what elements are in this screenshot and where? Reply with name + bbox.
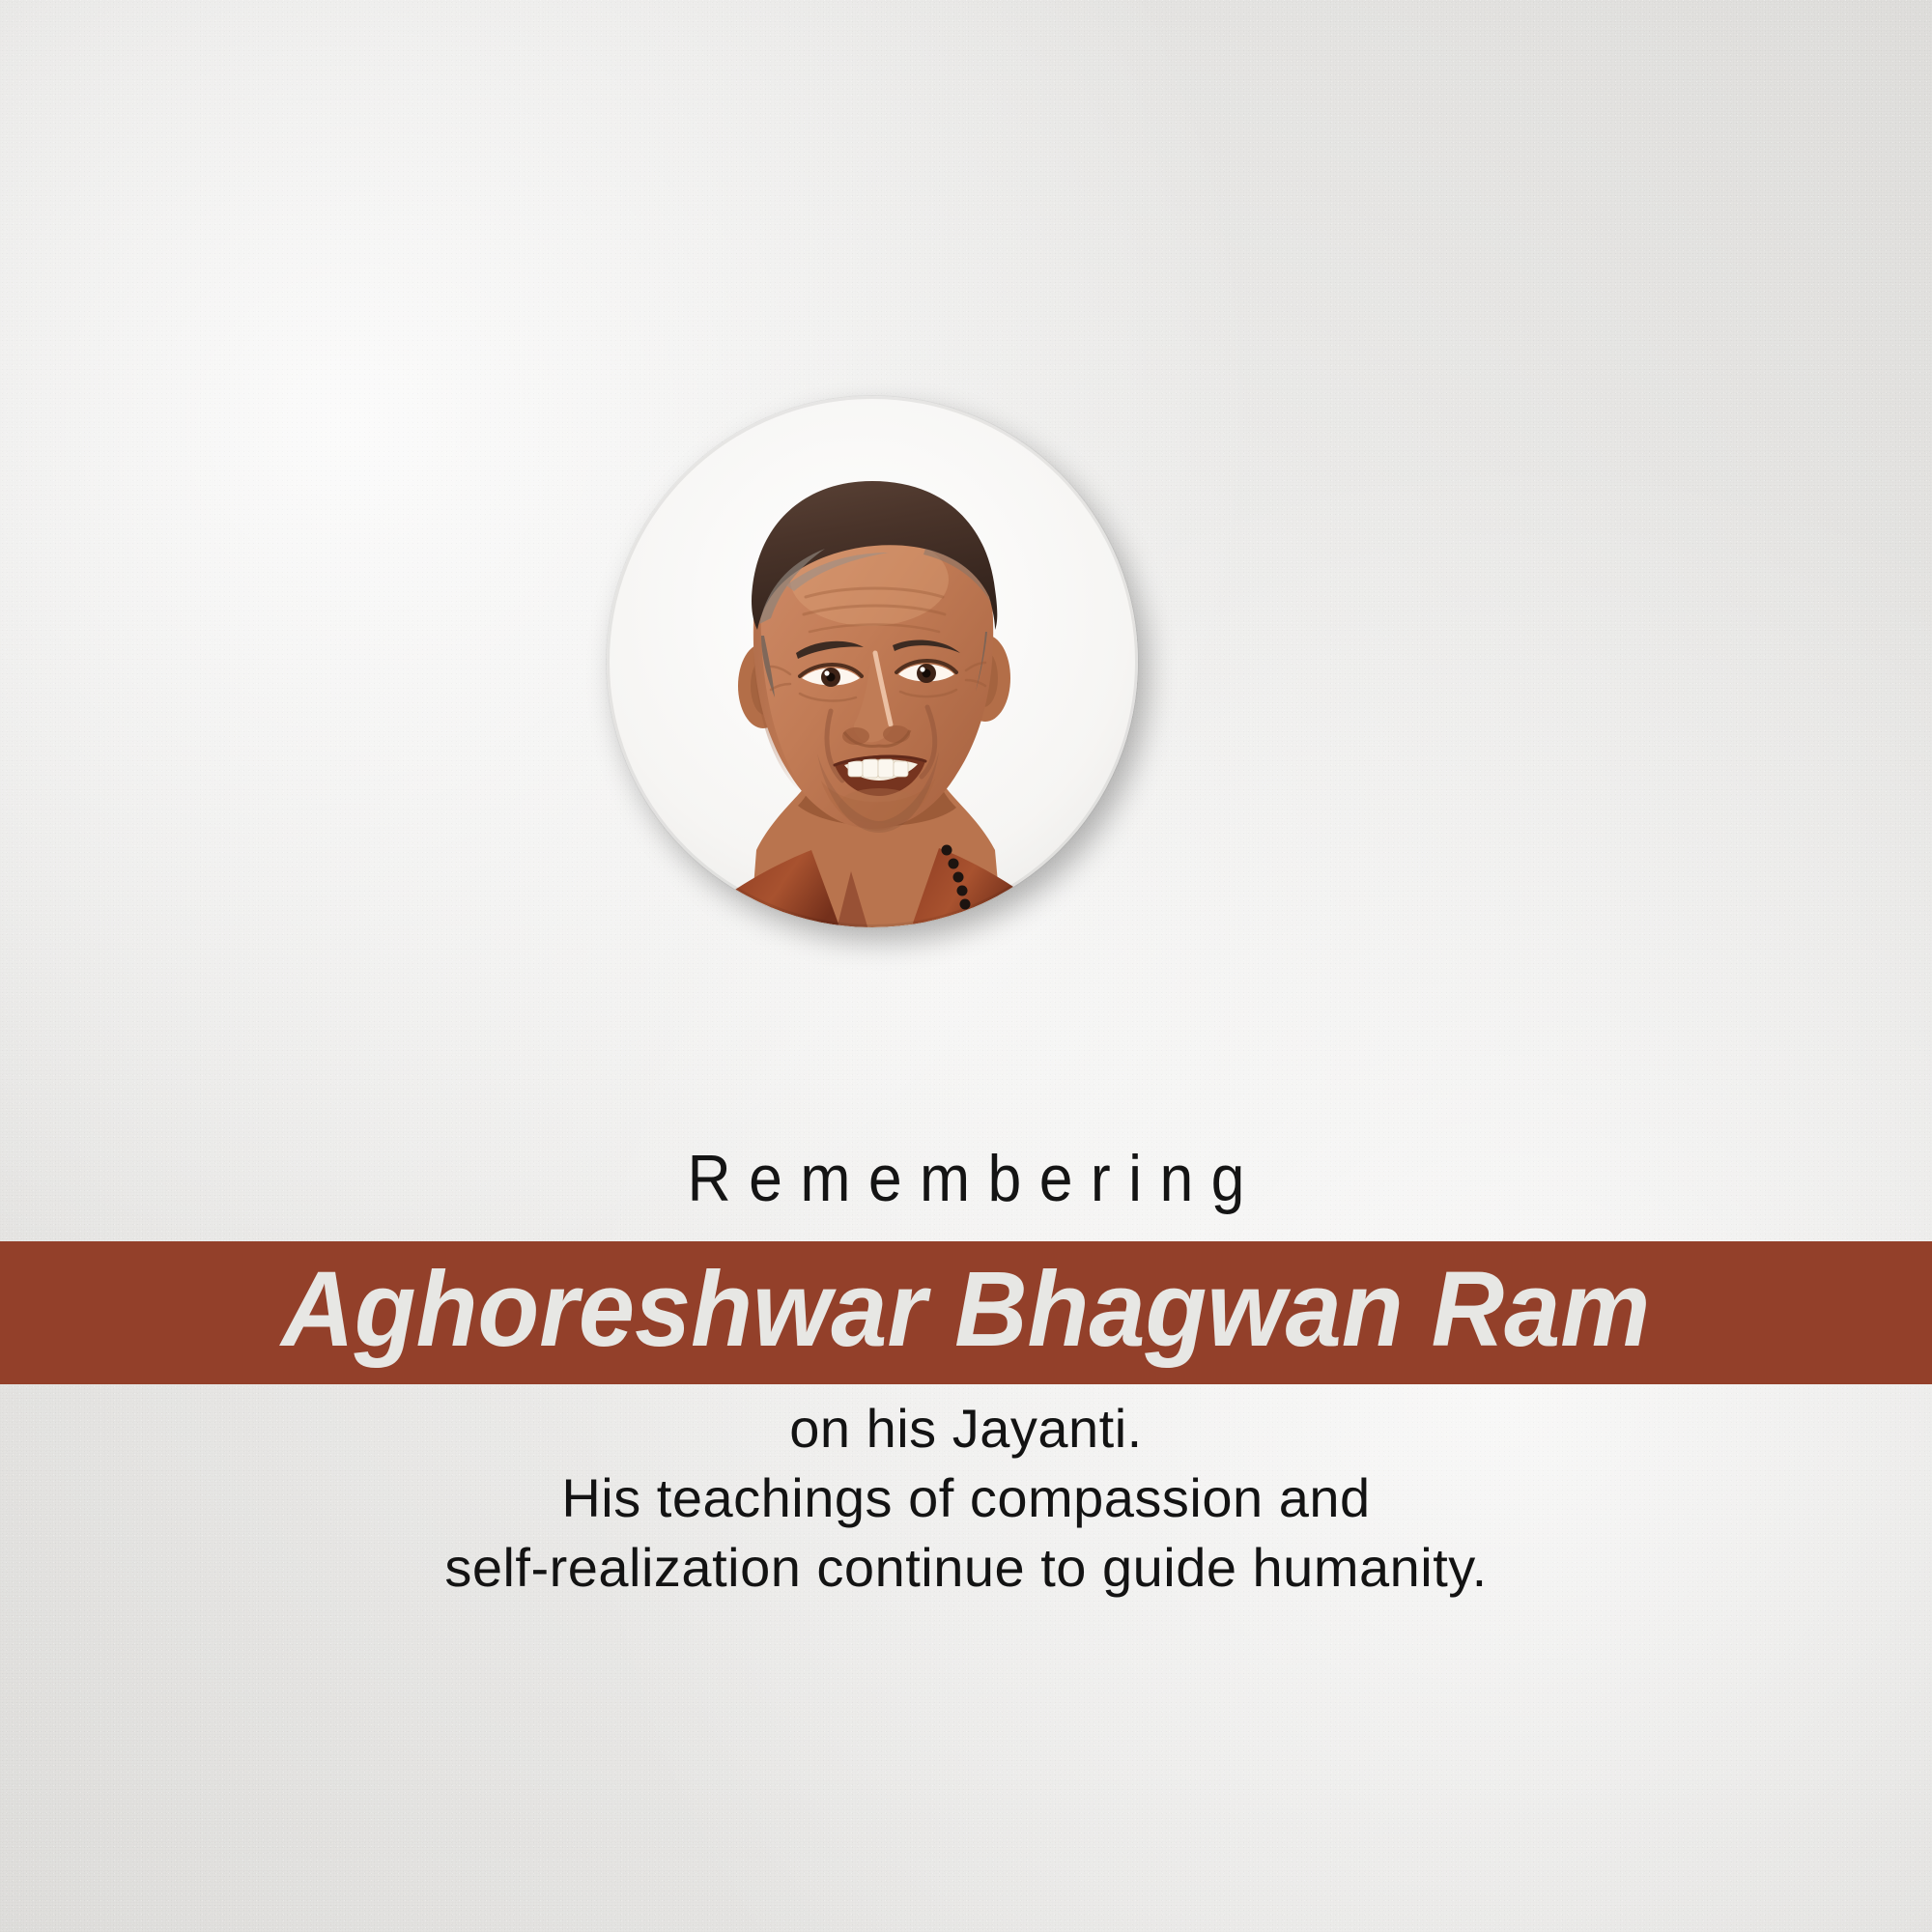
tribute-message: on his Jayanti. His teachings of compass… xyxy=(0,1394,1932,1603)
tribute-line-1: on his Jayanti. xyxy=(0,1394,1932,1463)
poster-canvas: Remembering Aghoreshwar Bhagwan Ram on h… xyxy=(0,0,1932,1932)
portrait-container xyxy=(607,396,1138,927)
name-banner: Aghoreshwar Bhagwan Ram xyxy=(0,1241,1932,1384)
paper-texture-overlay xyxy=(0,0,1932,1932)
tribute-line-3: self-realization continue to guide human… xyxy=(0,1533,1932,1603)
tribute-line-2: His teachings of compassion and xyxy=(0,1463,1932,1533)
portrait-image xyxy=(607,396,1138,927)
eyebrow-heading: Remembering xyxy=(77,1146,1855,1211)
portrait-avatar xyxy=(607,396,1138,927)
honoree-name: Aghoreshwar Bhagwan Ram xyxy=(282,1257,1651,1369)
